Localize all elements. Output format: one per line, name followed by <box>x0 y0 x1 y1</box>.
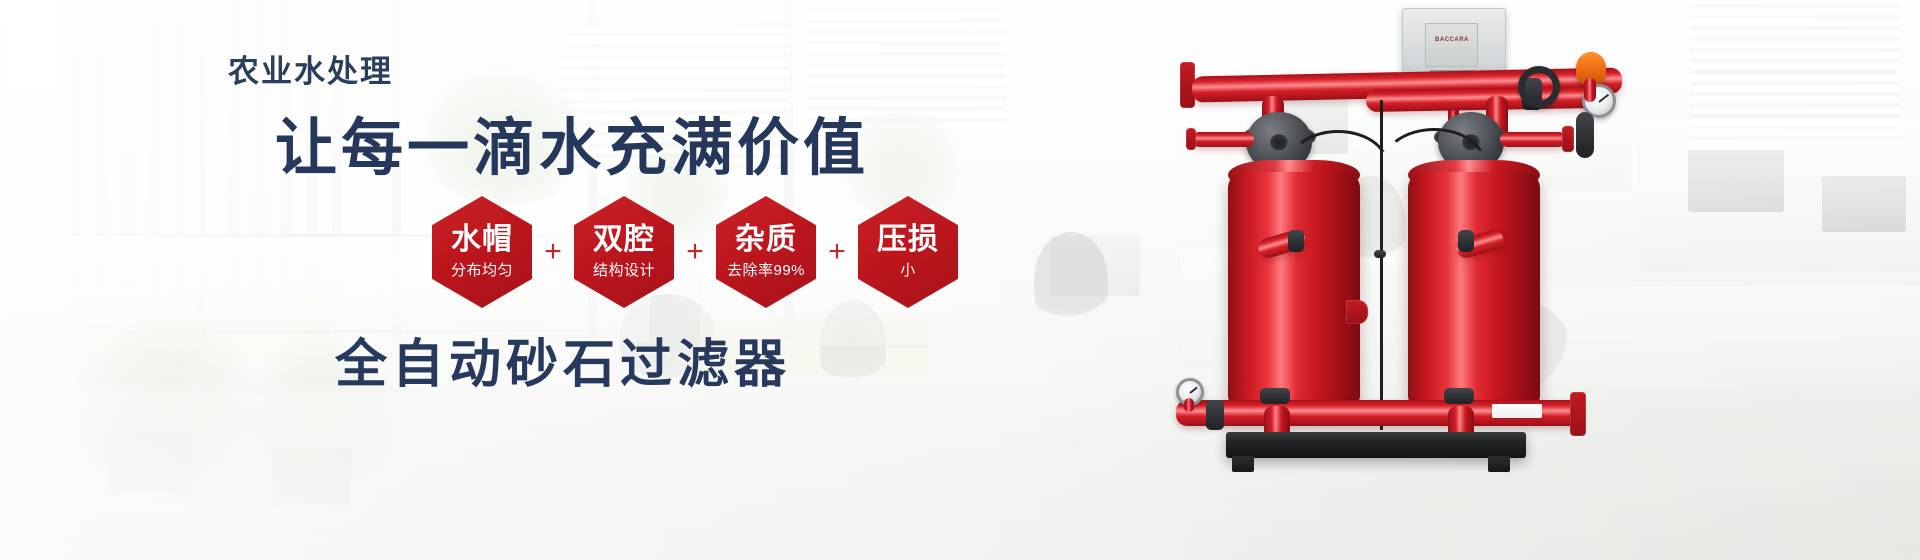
product-name-headline: 全自动砂石过滤器 <box>335 322 791 397</box>
plus-separator-icon: + <box>532 237 574 267</box>
promo-banner: BACCARA BACCARA <box>0 0 1920 560</box>
feature-badge-pressure-loss: 压损 小 <box>858 196 958 308</box>
feature-title: 双腔 <box>593 224 655 256</box>
plus-separator-icon: + <box>674 237 716 267</box>
feature-title: 水帽 <box>451 224 513 256</box>
banner-copy: 农业水处理 让每一滴水充满价值 水帽 分布均匀 + 双腔 结构设计 + 杂质 去… <box>0 0 1100 560</box>
feature-subtitle: 分布均匀 <box>451 259 513 280</box>
feature-title: 压损 <box>877 224 939 256</box>
feature-badge-impurity: 杂质 去除率99% <box>716 196 816 308</box>
controller-brand-label: BACCARA <box>1426 37 1477 43</box>
feature-badge-water-cap: 水帽 分布均匀 <box>432 196 532 308</box>
product-photo-sand-filter: BACCARA BACCARA <box>1170 0 1920 560</box>
feature-badge-dual-chamber: 双腔 结构设计 <box>574 196 674 308</box>
plus-separator-icon: + <box>816 237 858 267</box>
hand-wheel-valve <box>1518 66 1560 108</box>
feature-subtitle: 小 <box>900 259 916 280</box>
feature-subtitle: 去除率99% <box>727 259 805 280</box>
feature-subtitle: 结构设计 <box>593 259 655 280</box>
filter-tank-right <box>1408 172 1540 406</box>
feature-title: 杂质 <box>735 224 797 256</box>
base-frame <box>1226 432 1526 458</box>
page-title: 让每一滴水充满价值 <box>275 97 869 187</box>
feature-badge-row: 水帽 分布均匀 + 双腔 结构设计 + 杂质 去除率99% + 压损 小 <box>432 196 958 308</box>
eyebrow-text: 农业水处理 <box>228 46 393 91</box>
filter-tank-left <box>1228 172 1360 406</box>
